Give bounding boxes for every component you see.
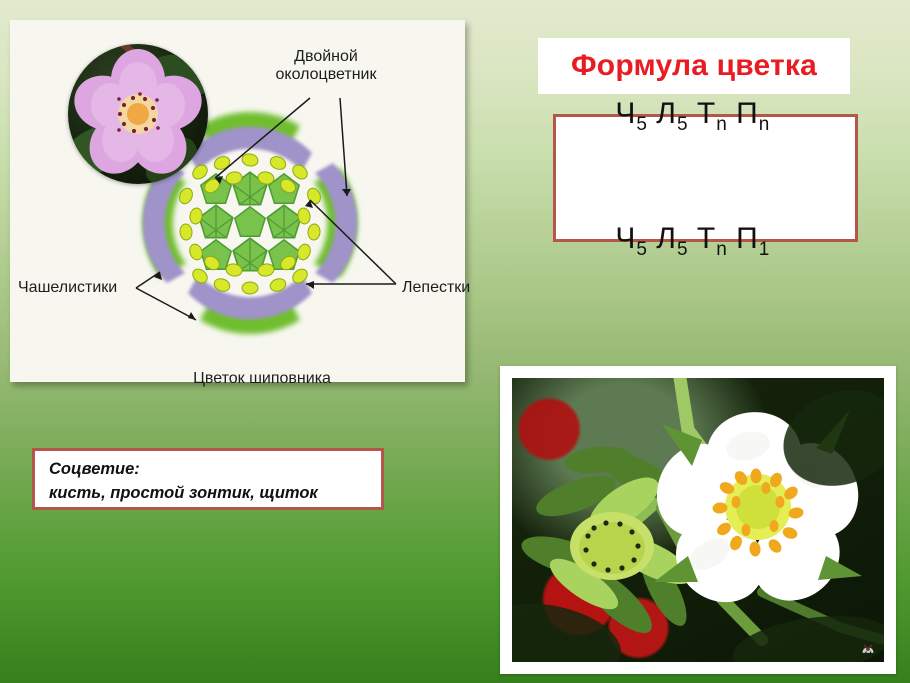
formula-1-part-2-index: 5 bbox=[677, 114, 688, 135]
cat-watermark-icon bbox=[860, 642, 876, 656]
formula-1-part-2-letter: Л bbox=[656, 97, 677, 130]
formula-2-part-4-index: 1 bbox=[759, 239, 770, 260]
flower-formula-box: Ч5 Л5 Тn Пn Ч5 Л5 Тn П1 bbox=[553, 114, 858, 242]
formula-1-part-1-index: 5 bbox=[636, 114, 647, 135]
formula-1-part-1-letter: Ч bbox=[615, 97, 636, 130]
formula-2-part-3-index: n bbox=[716, 239, 727, 260]
formula-2-part-2-index: 5 bbox=[677, 239, 688, 260]
strawberry-flower-photo bbox=[512, 378, 884, 662]
formula-line-2: Ч5 Л5 Тn П1 bbox=[578, 178, 855, 303]
formula-1-part-3-index: n bbox=[716, 114, 727, 135]
formula-1-part-4-letter: П bbox=[736, 97, 759, 130]
flower-diagram-panel: Двойной околоцветник Чашелистики Лепестк… bbox=[10, 20, 465, 382]
label-diagram-caption: Цветок шиповника bbox=[193, 370, 331, 388]
perianth-line-2: околоцветник bbox=[276, 66, 377, 83]
label-petals: Лепестки bbox=[402, 279, 470, 297]
inflorescence-heading: Соцветие: bbox=[49, 458, 381, 482]
inflorescence-items: кисть, простой зонтик, щиток bbox=[49, 482, 381, 506]
formula-line-1: Ч5 Л5 Тn Пn bbox=[578, 53, 855, 178]
strawberry-photo-frame bbox=[500, 366, 896, 674]
formula-2-part-3-letter: Т bbox=[697, 222, 716, 255]
inflorescence-box: Соцветие: кисть, простой зонтик, щиток bbox=[32, 448, 384, 510]
label-double-perianth: Двойной околоцветник bbox=[276, 48, 377, 84]
formula-2-part-4-letter: П bbox=[736, 222, 759, 255]
formula-2-part-2-letter: Л bbox=[656, 222, 677, 255]
formula-1-part-4-index: n bbox=[759, 114, 770, 135]
perianth-line-1: Двойной bbox=[294, 48, 358, 65]
label-sepals: Чашелистики bbox=[18, 279, 117, 297]
rosehip-flower-photo bbox=[68, 44, 208, 184]
formula-2-part-1-index: 5 bbox=[636, 239, 647, 260]
formula-1-part-3-letter: Т bbox=[697, 97, 716, 130]
formula-2-part-1-letter: Ч bbox=[615, 222, 636, 255]
